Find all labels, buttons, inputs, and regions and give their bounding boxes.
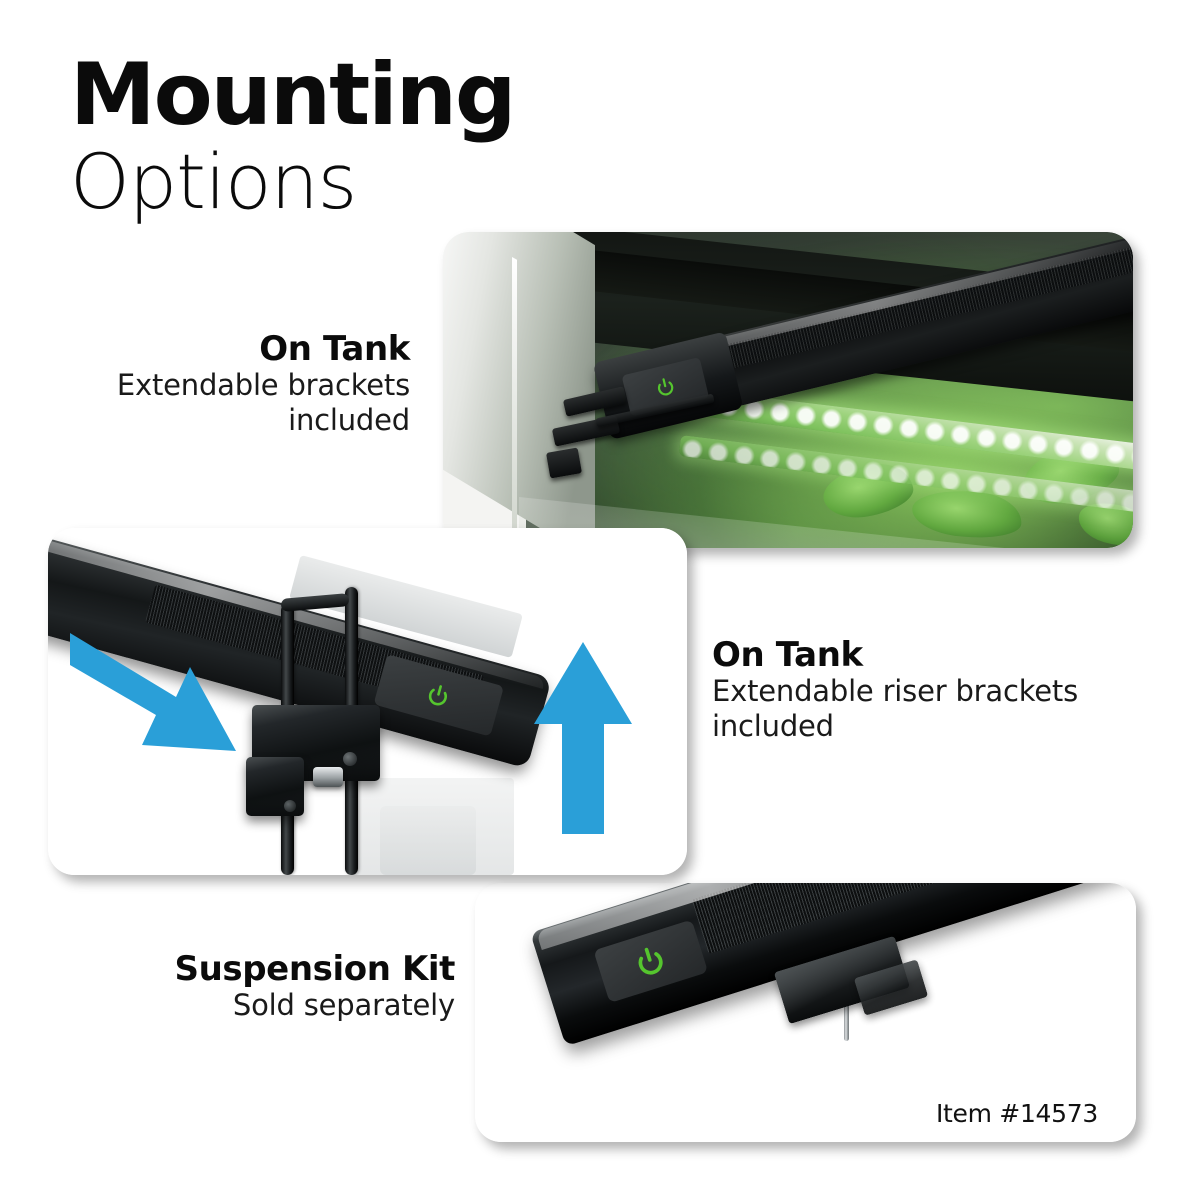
extendable-bracket-foot	[546, 447, 582, 478]
title-line-secondary: Options	[70, 144, 515, 220]
caption-heading: Suspension Kit	[60, 950, 455, 988]
page-title: Mounting Options	[70, 52, 515, 220]
item-number: Item #14573	[936, 1099, 1098, 1128]
power-icon	[423, 680, 455, 712]
photo-panel-on-tank	[443, 232, 1133, 548]
photo-riser-brackets	[48, 528, 687, 875]
caption-on-tank-riser: On Tank Extendable riser brackets includ…	[712, 636, 1112, 744]
arrow-up-icon	[528, 638, 638, 838]
caption-heading: On Tank	[712, 636, 1112, 674]
caption-body: Sold separately	[60, 988, 455, 1023]
caption-body: Extendable riser brackets included	[712, 674, 1112, 744]
clamp-bolt	[343, 752, 357, 766]
ghost-clamp	[380, 806, 476, 875]
power-icon	[652, 373, 679, 400]
riser-scene	[48, 528, 687, 875]
caption-suspension-kit: Suspension Kit Sold separately	[60, 950, 455, 1023]
suspension-scene: Item #14573	[475, 883, 1136, 1142]
power-icon	[629, 939, 672, 982]
arrow-down-left-icon	[68, 623, 278, 773]
caption-heading: On Tank	[60, 330, 410, 368]
photo-on-tank	[443, 232, 1133, 548]
photo-suspension-kit: Item #14573	[475, 883, 1136, 1142]
caption-on-tank-brackets: On Tank Extendable brackets included	[60, 330, 410, 438]
photo-panel-suspension-kit: Item #14573	[475, 883, 1136, 1142]
tank-glass-corner-edge	[512, 257, 517, 548]
clamp-thumb-screw[interactable]	[313, 767, 343, 787]
caption-body: Extendable brackets included	[60, 368, 410, 438]
tank-scene	[443, 232, 1133, 548]
title-line-primary: Mounting	[70, 52, 515, 138]
photo-panel-riser-brackets	[48, 528, 687, 875]
